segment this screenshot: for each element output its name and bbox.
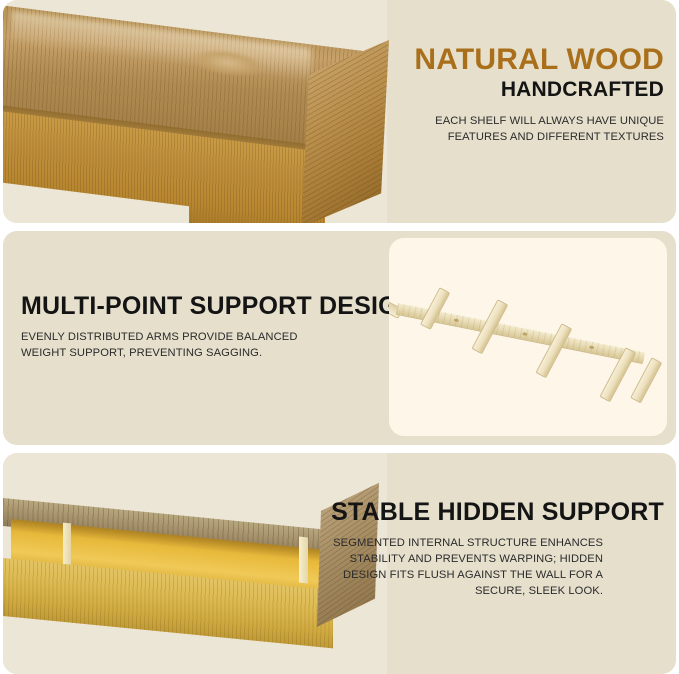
wood-plank-photo — [3, 0, 387, 223]
infographic-sheet: NATURAL WOOD HANDCRAFTED EACH SHELF WILL… — [0, 0, 679, 674]
panel-1-body: EACH SHELF WILL ALWAYS HAVE UNIQUE FEATU… — [400, 114, 664, 146]
panel-1-subtitle: HANDCRAFTED — [400, 78, 664, 101]
panel-3-copy: STABLE HIDDEN SUPPORT SEGMENTED INTERNAL… — [331, 499, 664, 600]
panel-2-title: MULTI-POINT SUPPORT DESIGN — [21, 293, 416, 319]
hidden-support-photo — [3, 453, 387, 674]
panel-2-copy: MULTI-POINT SUPPORT DESIGN EVENLY DISTRI… — [21, 293, 416, 362]
shelf-background-mask — [3, 632, 171, 674]
shelf-internal-divider-left — [63, 523, 71, 568]
plank-highlight — [11, 11, 311, 83]
shelf-internal-divider-right — [299, 537, 308, 584]
panel-1-title: NATURAL WOOD — [400, 44, 664, 75]
panel-1-copy: NATURAL WOOD HANDCRAFTED EACH SHELF WILL… — [400, 44, 664, 146]
panel-stable-hidden-support: STABLE HIDDEN SUPPORT SEGMENTED INTERNAL… — [3, 453, 676, 674]
panel-multi-point-support: MULTI-POINT SUPPORT DESIGN EVENLY DISTRI… — [3, 231, 676, 445]
panel-2-body: EVENLY DISTRIBUTED ARMS PROVIDE BALANCED… — [21, 330, 321, 362]
panel-3-body: SEGMENTED INTERNAL STRUCTURE ENHANCES ST… — [331, 536, 603, 600]
panel-natural-wood: NATURAL WOOD HANDCRAFTED EACH SHELF WILL… — [3, 0, 676, 223]
panel-3-title: STABLE HIDDEN SUPPORT — [331, 499, 664, 525]
bracket-photo-card — [389, 238, 667, 436]
bracket-arm-5 — [630, 357, 662, 403]
